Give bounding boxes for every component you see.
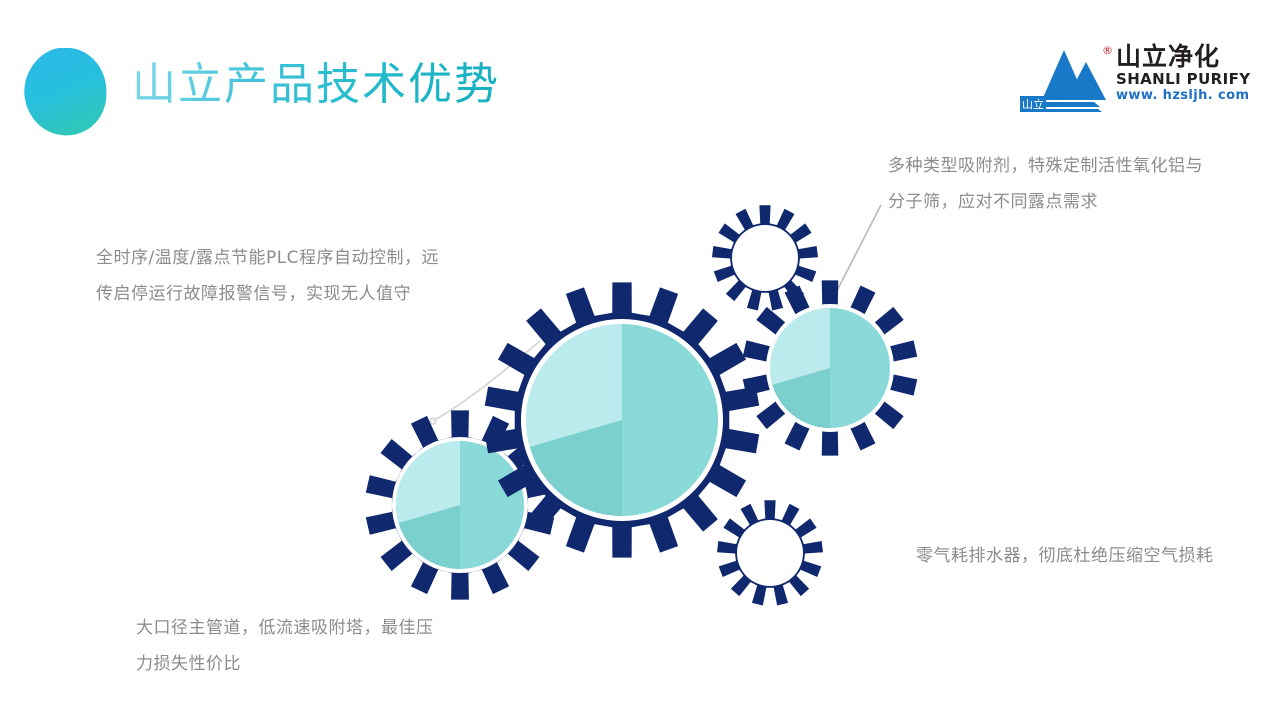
twin-mountain-logo-icon: 山立 [1020,42,1112,112]
brand-name-cn: 山立净化 [1116,42,1258,71]
gear-bottom-small [717,500,823,605]
brand-name-en: SHANLI PURIFY [1116,71,1258,88]
leader-line-adsorbent [826,205,881,312]
slide-canvas: 山立产品技术优势 山立 ® 山立净化 SHANLI PURIFY www. hz… [0,0,1280,720]
brand-website: www. hzsljh. com [1116,88,1258,104]
registered-trademark-icon: ® [1102,44,1113,57]
organic-blob-icon [21,46,111,138]
callout-plc-control: 全时序/温度/露点节能PLC程序自动控制，远传启停运行故障报警信号，实现无人值守 [96,240,446,312]
leader-line-plc [433,341,540,421]
brand-logo: 山立 ® 山立净化 SHANLI PURIFY www. hzsljh. com [1020,42,1258,114]
svg-text:山立: 山立 [1022,97,1044,111]
callout-adsorbent-types: 多种类型吸附剂，特殊定制活性氧化铝与分子筛，应对不同露点需求 [888,148,1206,220]
leader-dot-plc [430,418,436,424]
page-title: 山立产品技术优势 [132,55,500,115]
callout-large-diameter-pipe: 大口径主管道，低流速吸附塔，最佳压力损失性价比 [136,610,436,682]
brand-logo-text: 山立净化 SHANLI PURIFY www. hzsljh. com [1116,42,1258,112]
callout-zero-air-loss-drain: 零气耗排水器，彻底杜绝压缩空气损耗 [916,538,1226,574]
gear-top-small [712,205,818,310]
gear-lower-left [366,410,554,599]
gear-right [743,280,918,455]
gear-main [485,282,759,557]
